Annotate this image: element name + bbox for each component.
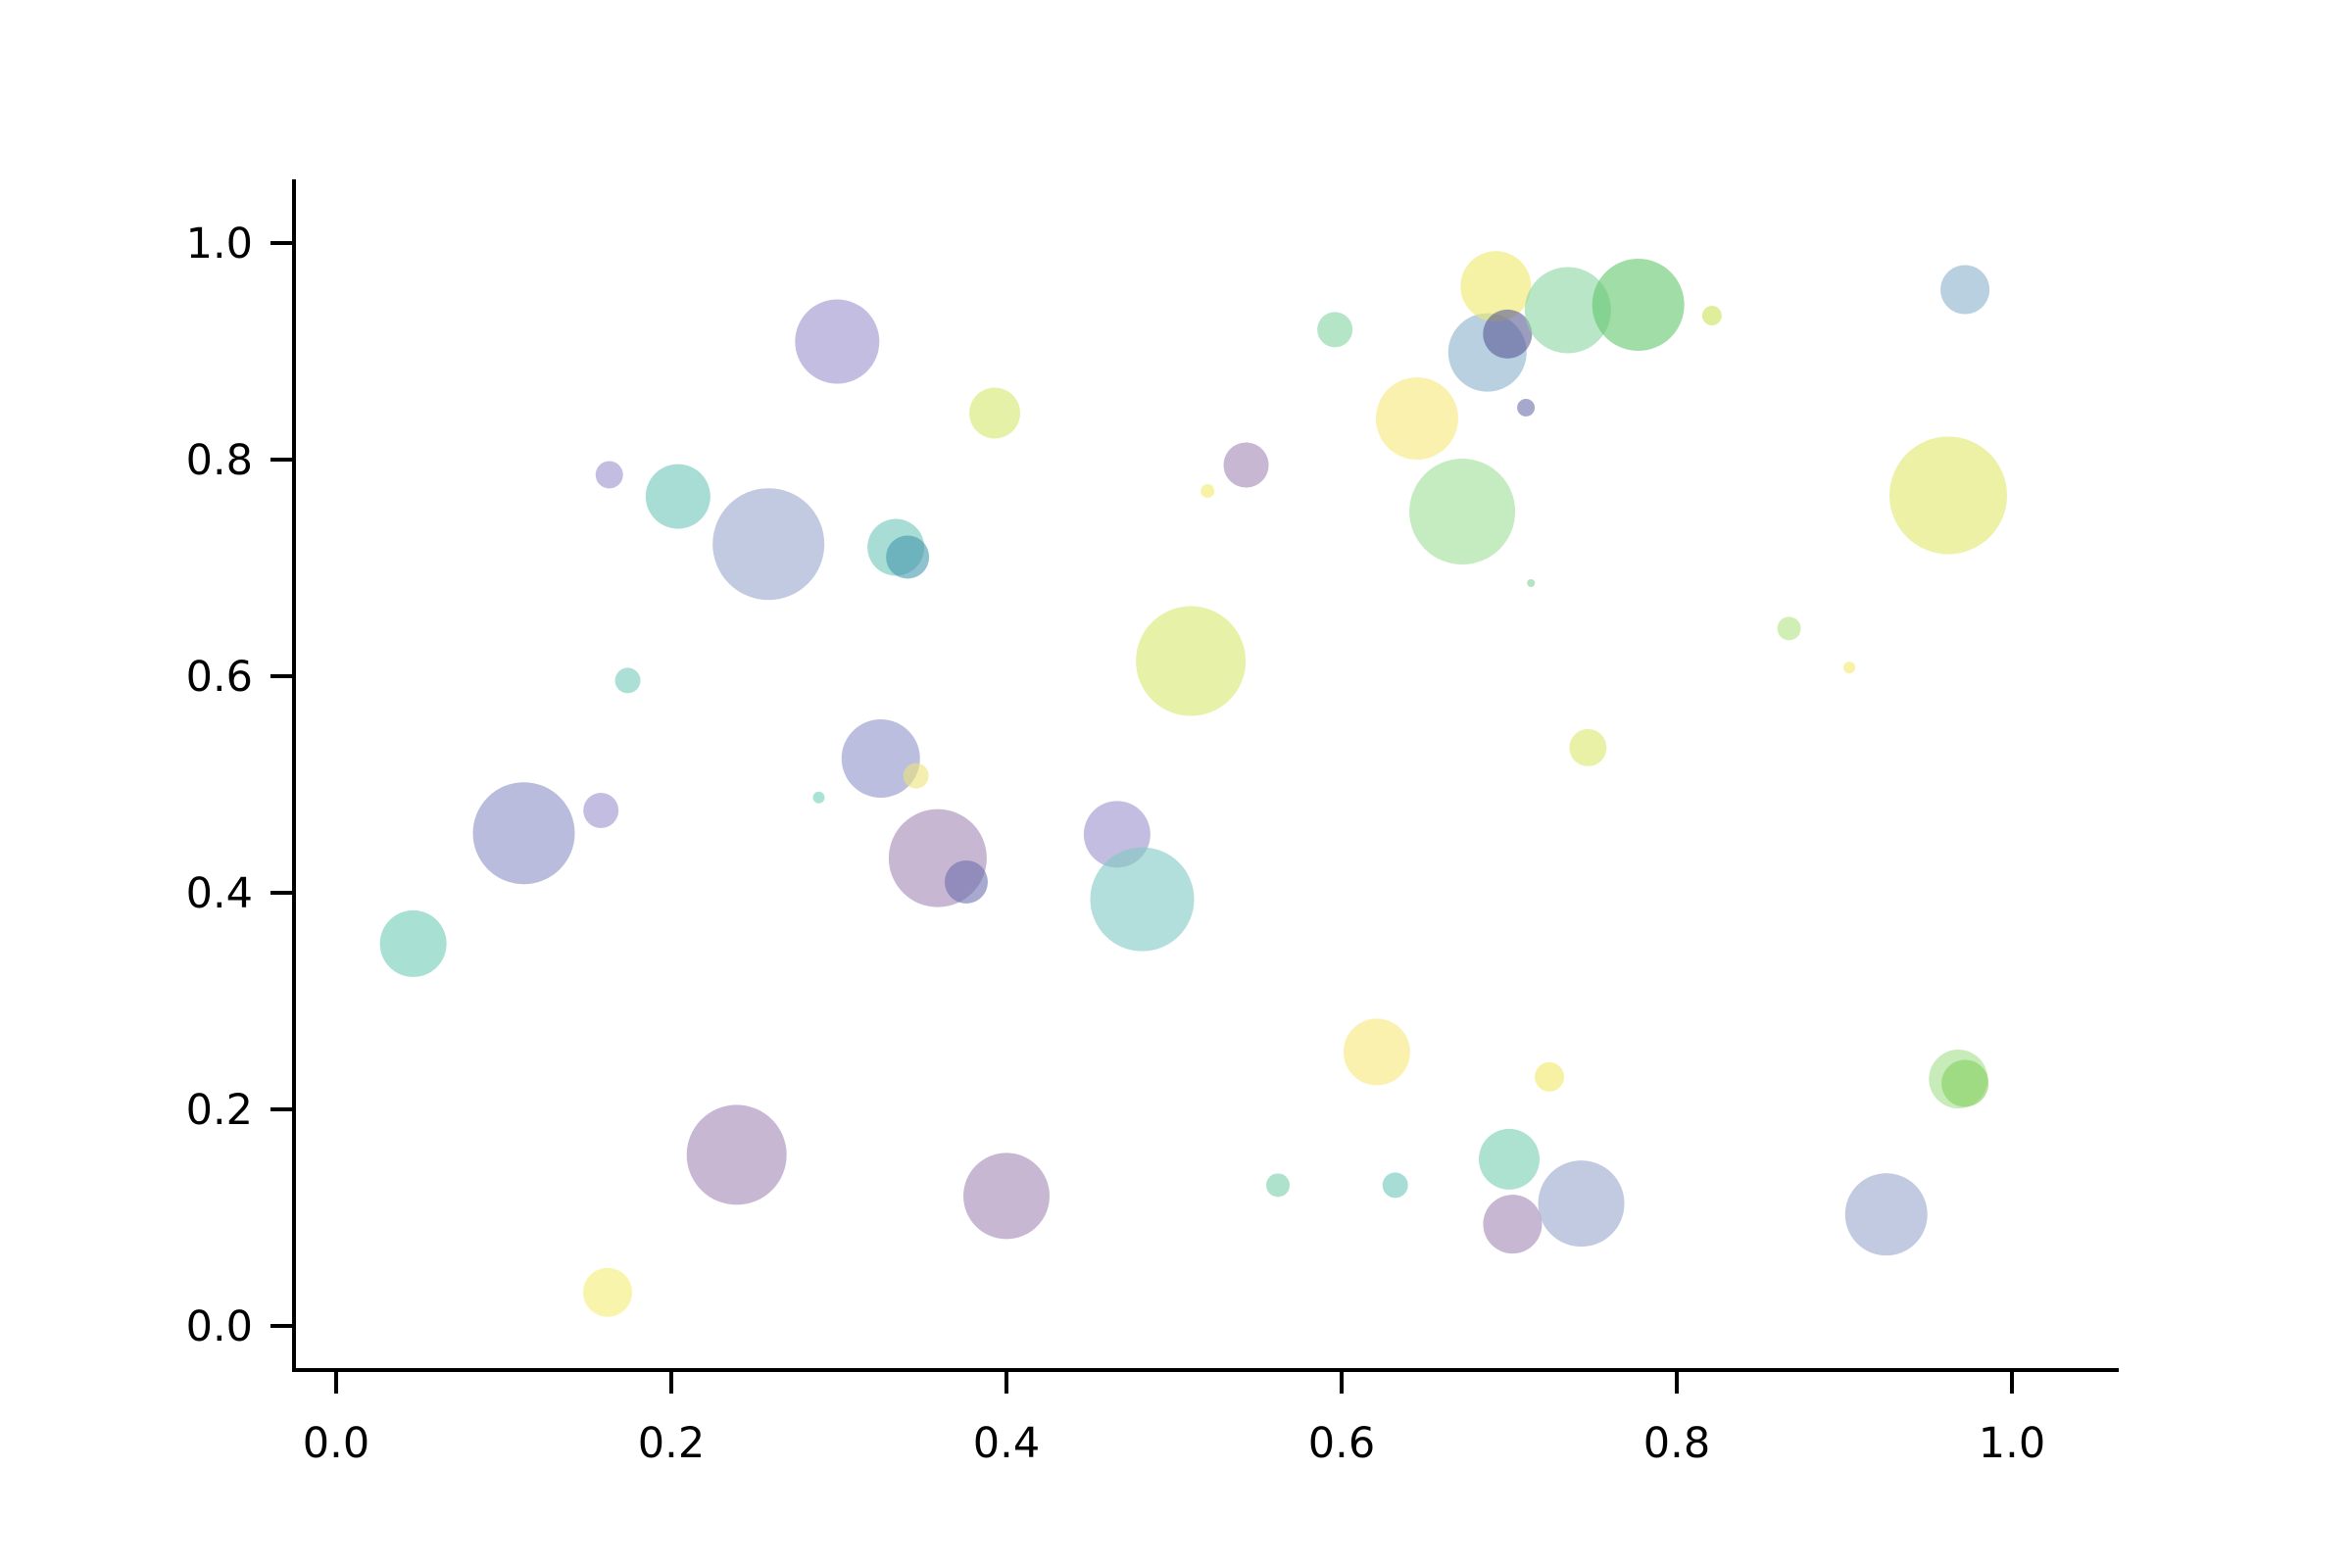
scatter-point — [886, 535, 929, 578]
scatter-point — [1778, 616, 1801, 640]
scatter-point — [795, 300, 879, 384]
scatter-point — [583, 793, 618, 828]
scatter-point — [646, 465, 710, 529]
scatter-point — [945, 860, 988, 904]
scatter-point — [1317, 312, 1352, 347]
x-tick-label: 0.0 — [303, 1419, 369, 1468]
scatter-point — [1383, 1172, 1408, 1198]
scatter-point — [1940, 266, 1989, 315]
scatter-point — [904, 763, 929, 789]
scatter-point — [1845, 1173, 1928, 1255]
scatter-point — [1535, 1062, 1564, 1092]
scatter-point — [1224, 443, 1269, 488]
scatter-point — [1200, 484, 1214, 498]
y-tick-label: 0.2 — [186, 1086, 253, 1135]
scatter-plot: 0.00.20.40.60.81.0 0.00.20.40.60.81.0 — [0, 0, 2352, 1568]
scatter-point — [1091, 848, 1195, 952]
scatter-point — [1941, 1059, 1988, 1106]
scatter-point — [596, 461, 623, 488]
scatter-point — [1527, 579, 1535, 587]
y-tick-label: 0.8 — [186, 436, 253, 485]
scatter-point — [1344, 1018, 1410, 1085]
y-tick-label: 1.0 — [186, 220, 253, 269]
scatter-point — [1266, 1173, 1290, 1197]
x-tick-label: 1.0 — [1979, 1419, 2045, 1468]
scatter-point — [1483, 1195, 1542, 1253]
scatter-point — [1569, 729, 1606, 766]
figure-canvas: 0.00.20.40.60.81.0 0.00.20.40.60.81.0 — [0, 0, 2352, 1568]
scatter-point — [1136, 607, 1246, 716]
scatter-point — [1517, 399, 1535, 416]
x-tick-label: 0.4 — [973, 1419, 1040, 1468]
scatter-point — [842, 719, 920, 798]
scatter-point — [473, 782, 575, 884]
y-tick-label: 0.6 — [186, 653, 253, 702]
scatter-point — [1539, 1160, 1625, 1247]
scatter-point — [1483, 310, 1532, 359]
scatter-point — [1409, 459, 1515, 564]
x-tick-label: 0.6 — [1308, 1419, 1375, 1468]
x-tick-label: 0.8 — [1643, 1419, 1710, 1468]
y-tick-label: 0.4 — [186, 869, 253, 918]
scatter-point — [687, 1104, 787, 1204]
x-tick-label: 0.2 — [638, 1419, 705, 1468]
scatter-point — [1479, 1129, 1540, 1190]
scatter-point — [1592, 259, 1685, 351]
scatter-point — [1843, 661, 1855, 673]
y-tick-label: 0.0 — [186, 1302, 253, 1351]
scatter-point — [812, 792, 824, 804]
scatter-point — [615, 667, 641, 693]
scatter-point — [969, 387, 1020, 438]
scatter-point — [1702, 306, 1722, 325]
scatter-point — [963, 1152, 1050, 1239]
scatter-point — [380, 910, 447, 977]
scatter-point — [1376, 377, 1458, 460]
scatter-point — [712, 488, 824, 600]
scatter-point — [583, 1268, 632, 1317]
scatter-point — [1889, 436, 2007, 554]
scatter-point — [1460, 251, 1531, 321]
